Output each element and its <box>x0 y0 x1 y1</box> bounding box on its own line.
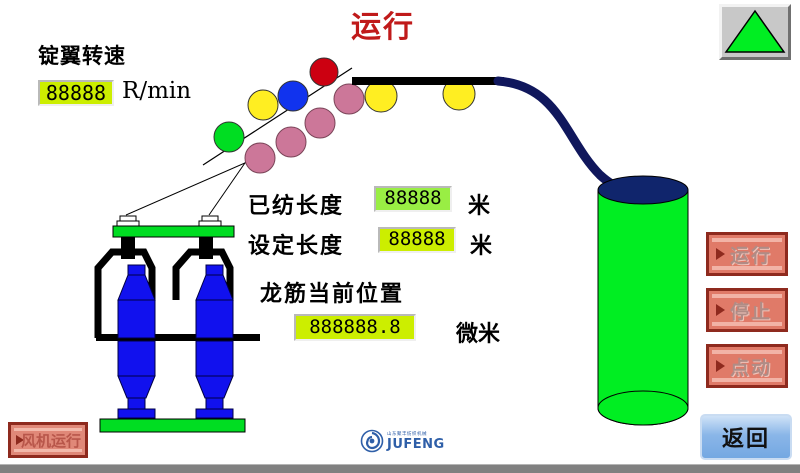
logo-text-block: 山东聚丰纺织机械 JUFENG <box>387 432 445 451</box>
ball-group-mauve <box>245 84 364 173</box>
run-button-label: 运行 <box>730 241 772 268</box>
spun-length-unit: 米 <box>468 188 490 220</box>
jog-button-label: 点动 <box>730 353 772 380</box>
ball-green <box>214 122 244 152</box>
rail-position-label: 龙筋当前位置 <box>260 276 404 308</box>
stop-button-label: 停止 <box>730 297 772 324</box>
flyer-left <box>96 237 182 418</box>
ball-mauve-4 <box>334 84 364 114</box>
ball-yellow-1 <box>248 90 278 120</box>
flyer-speed-unit: R/min <box>122 78 191 104</box>
set-length-value[interactable]: 88888 <box>378 227 456 253</box>
page-title: 运行 <box>318 2 448 46</box>
ball-mauve-2 <box>276 127 306 157</box>
scroll-up-button[interactable] <box>719 4 791 60</box>
up-triangle-icon <box>722 7 788 57</box>
fan-run-button[interactable]: 风机运行 <box>8 422 88 458</box>
jog-button[interactable]: 点动 <box>706 344 788 388</box>
ball-track-line <box>203 68 352 165</box>
set-length-unit: 米 <box>470 228 492 260</box>
sliver-can <box>598 176 688 425</box>
ball-yellow-3 <box>443 78 475 110</box>
flyer-speed-label: 锭翼转速 <box>38 40 126 70</box>
stop-button[interactable]: 停止 <box>706 288 788 332</box>
spindle-assembly <box>96 216 260 432</box>
status-bar <box>0 464 800 473</box>
play-arrow-icon <box>716 248 725 260</box>
spun-length-label: 已纺长度 <box>248 188 344 220</box>
set-length-label: 设定长度 <box>248 228 344 260</box>
thread-path <box>498 81 625 190</box>
lower-rail <box>100 419 245 432</box>
flyer-right <box>174 237 260 418</box>
rail-position-value[interactable]: 888888.8 <box>294 314 416 341</box>
hmi-screen: 运行 锭翼转速 88888 R/min 已纺长度 88888 米 设定长度 88… <box>0 0 800 473</box>
ball-blue <box>278 81 308 111</box>
company-logo: 山东聚丰纺织机械 JUFENG <box>360 428 456 454</box>
play-arrow-icon <box>716 304 725 316</box>
flyer-speed-value[interactable]: 88888 <box>38 80 114 106</box>
play-arrow-icon <box>716 360 725 372</box>
fan-run-button-label: 风机运行 <box>21 430 81 451</box>
rail-bolt-right <box>199 216 221 226</box>
can-top <box>598 176 688 204</box>
ball-red <box>310 58 338 86</box>
run-button[interactable]: 运行 <box>706 232 788 276</box>
back-button[interactable]: 返回 <box>700 414 792 460</box>
top-guide-bar <box>352 77 504 85</box>
ball-group-colored <box>214 58 475 152</box>
jufeng-swirl-icon <box>360 429 384 453</box>
spun-length-value[interactable]: 88888 <box>374 186 452 212</box>
logo-english: JUFENG <box>387 438 445 451</box>
rail-position-unit: 微米 <box>456 316 500 348</box>
upper-rail <box>113 226 234 237</box>
ball-mauve-3 <box>305 108 335 138</box>
ball-mauve-1 <box>245 143 275 173</box>
rail-bolt-left <box>117 216 139 226</box>
guide-line-right <box>209 160 247 215</box>
ball-yellow-2 <box>365 80 397 112</box>
